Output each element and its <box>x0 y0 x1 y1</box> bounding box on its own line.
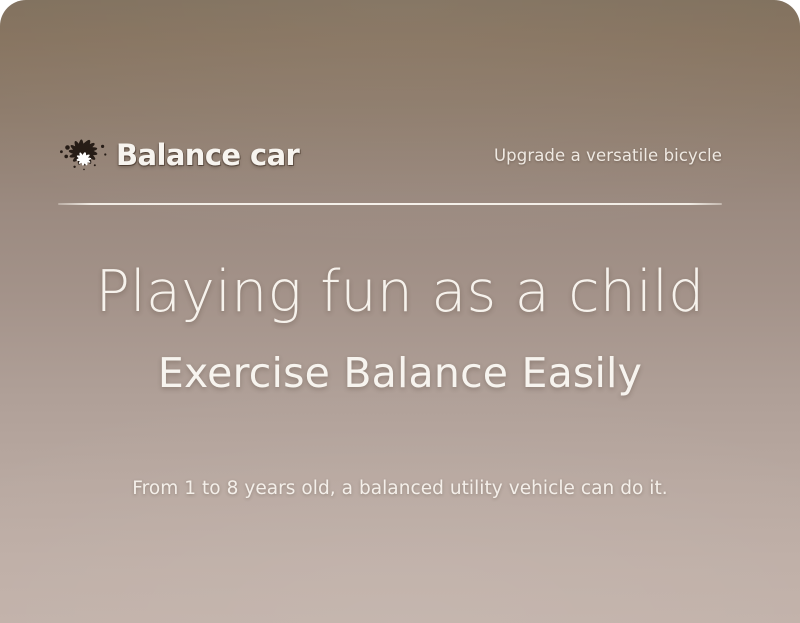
header-divider <box>58 203 722 205</box>
header-tagline: Upgrade a versatile bicycle <box>494 146 722 165</box>
hero-note: From 1 to 8 years old, a balanced utilit… <box>0 478 800 500</box>
hero-title: Playing fun as a child <box>0 262 800 324</box>
hero-subtitle: Exercise Balance Easily <box>0 351 800 396</box>
brand-name: Balance car <box>116 141 299 170</box>
ink-splat-icon <box>58 138 112 172</box>
brand-lockup: Balance car <box>58 138 299 172</box>
product-hero-banner: Balance car Upgrade a versatile bicycle … <box>0 0 800 623</box>
hero-copy-block: Playing fun as a child Exercise Balance … <box>0 262 800 396</box>
banner-header: Balance car Upgrade a versatile bicycle <box>58 132 722 178</box>
